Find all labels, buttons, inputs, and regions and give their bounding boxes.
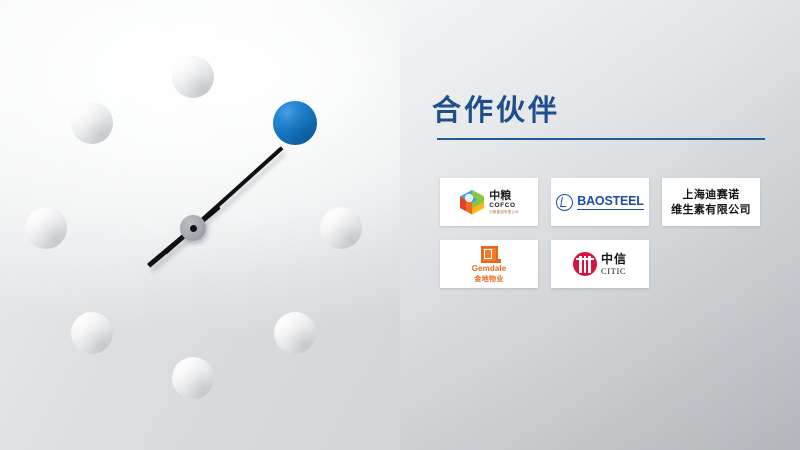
section-header: 合作伙伴 <box>420 90 780 142</box>
hour-marker-3 <box>25 207 67 249</box>
partner-citic-card[interactable]: 中信 CITIC <box>551 240 649 288</box>
baosteel-emblem-icon <box>556 194 573 211</box>
citic-wordmark: 中信 CITIC <box>601 253 627 276</box>
partner-cofco-card[interactable]: 中粮 COFCO 中粮集团有限公司 <box>440 178 538 226</box>
hour-marker-1 <box>71 102 113 144</box>
clock-center-pin <box>190 225 197 232</box>
baosteel-logo: BAOSTEEL <box>556 194 643 211</box>
gemdale-name-en: Gemdale <box>472 265 507 273</box>
hour-marker-2-highlight <box>273 101 317 145</box>
partner-baosteel-card[interactable]: BAOSTEEL <box>551 178 649 226</box>
disano-name-line2: 维生素有限公司 <box>671 202 751 217</box>
citic-name-cn: 中信 <box>601 253 627 265</box>
hour-marker-5 <box>71 312 113 354</box>
hour-marker-6 <box>274 312 316 354</box>
disano-logo: 上海迪赛诺 维生素有限公司 <box>671 187 751 217</box>
minute-hand-shadow <box>195 151 287 234</box>
cofco-cube-icon <box>459 189 485 215</box>
gemdale-logo: Gemdale 金地物业 <box>472 246 507 283</box>
hour-marker-4 <box>320 207 362 249</box>
wall-clock-image <box>0 0 400 450</box>
cofco-wordmark: 中粮 COFCO 中粮集团有限公司 <box>489 190 519 214</box>
cofco-logo: 中粮 COFCO 中粮集团有限公司 <box>459 189 519 215</box>
partners-section: 合作伙伴 <box>420 90 780 142</box>
baosteel-wordmark: BAOSTEEL <box>577 194 643 210</box>
partner-disano-card[interactable]: 上海迪赛诺 维生素有限公司 <box>662 178 760 226</box>
citic-logo: 中信 CITIC <box>573 252 627 276</box>
gemdale-name-cn: 金地物业 <box>474 276 504 283</box>
partner-logo-grid: 中粮 COFCO 中粮集团有限公司 BAOSTEEL 上海迪赛诺 维生素有限公司 <box>440 178 780 288</box>
disano-name-line1: 上海迪赛诺 <box>671 187 751 202</box>
gemdale-square-icon <box>481 246 498 263</box>
title-underline <box>437 138 765 140</box>
citic-emblem-icon <box>573 252 597 276</box>
citic-name-en: CITIC <box>601 267 627 276</box>
slide-canvas: 合作伙伴 <box>0 0 800 450</box>
cofco-tagline: 中粮集团有限公司 <box>489 211 519 214</box>
cofco-name-cn: 中粮 <box>489 190 519 201</box>
partner-gemdale-card[interactable]: Gemdale 金地物业 <box>440 240 538 288</box>
hour-marker-7 <box>172 357 214 399</box>
page-title: 合作伙伴 <box>432 90 560 130</box>
hour-marker-12 <box>172 56 214 98</box>
cofco-name-en: COFCO <box>489 203 519 210</box>
